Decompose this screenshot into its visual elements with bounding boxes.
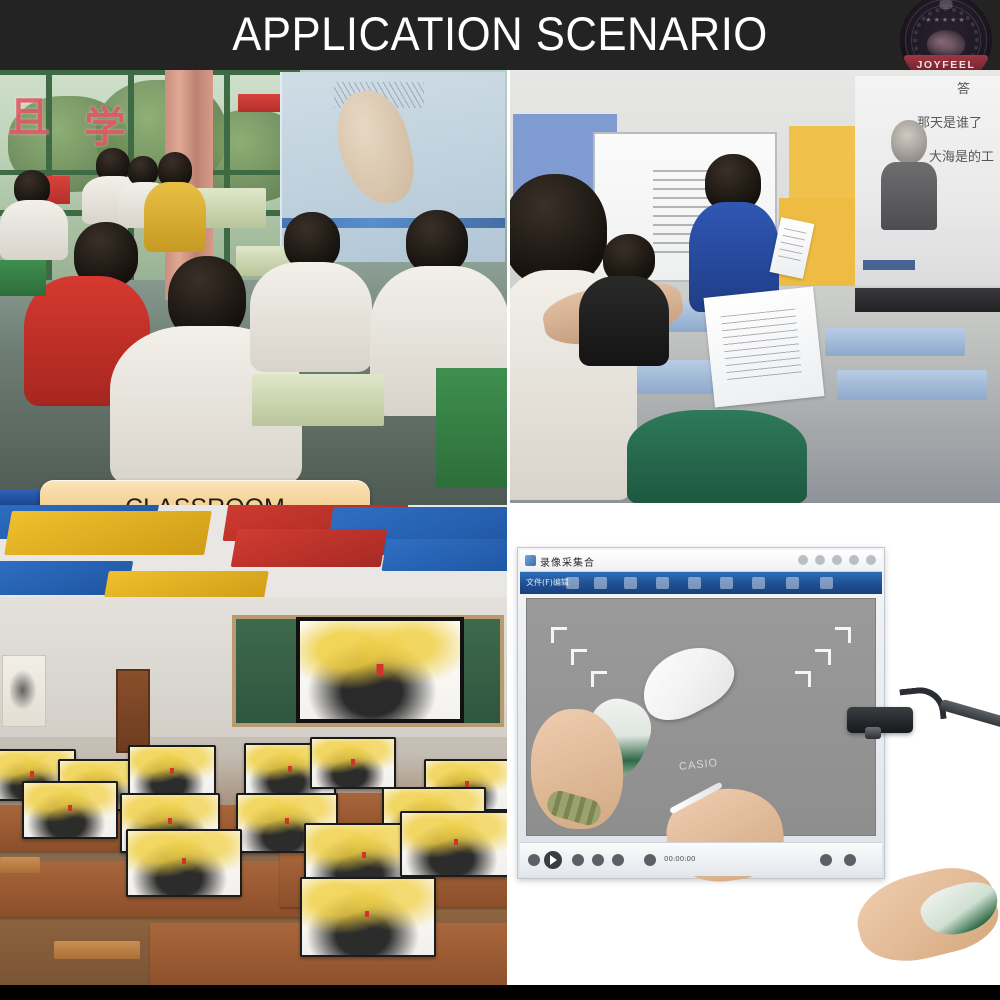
toolbar-button[interactable] (720, 577, 733, 589)
document-camera (847, 683, 1000, 753)
snapshot-button[interactable] (644, 854, 656, 866)
joyfeel-crest-logo: ★★★★★ JOYFEEL (900, 0, 992, 70)
monitor-seal (168, 818, 172, 824)
focus-bracket-icon (795, 671, 811, 687)
capture-software-window[interactable]: 录像采集合 文件(F)编辑 (517, 547, 885, 879)
toolbar-button[interactable] (656, 577, 669, 589)
student-torso (579, 276, 669, 366)
wall-character-1: 且 (8, 84, 50, 145)
display-stand-shelf (855, 288, 1000, 312)
monitor-seal (365, 911, 369, 917)
monitor-seal (170, 768, 174, 774)
student-stool (54, 941, 140, 959)
toolbar-button[interactable] (594, 577, 607, 589)
monitor-seal (182, 858, 186, 864)
record-button[interactable] (612, 854, 624, 866)
scenario-panel-video-shooting: 录像采集合 文件(F)编辑 (507, 505, 1000, 985)
ceiling-panel-yellow (4, 511, 212, 555)
wall-scroll-painting (2, 655, 46, 727)
classroom-desk (252, 374, 384, 426)
toolbar-button[interactable] (820, 577, 833, 589)
toolbar-menu-label[interactable]: 文件(F)编辑 (526, 577, 569, 588)
help-icon[interactable] (849, 555, 859, 565)
student-torso (0, 200, 68, 260)
app-icon (525, 555, 536, 566)
application-scenario-page: APPLICATION SCENARIO ★★★★★ JOYFEEL (0, 0, 1000, 1000)
window-frame (0, 70, 300, 75)
student-bag (627, 410, 807, 505)
desk-monitor (310, 737, 396, 789)
scenario-panel-calligraphy-training: CALLIGRAPHY & PAINTING TRAINING (0, 505, 507, 985)
save-button[interactable] (844, 854, 856, 866)
toolbar-button[interactable] (752, 577, 765, 589)
grid-divider-horizontal-right (507, 503, 1000, 507)
canvas-overlay-text: CASIO (678, 757, 718, 773)
teacher-head (891, 120, 927, 164)
focus-bracket-icon (815, 649, 831, 665)
scenario-panel-online-teaching: 答 那天是谁了 大海是的工 (507, 70, 1000, 505)
monitor-seal (288, 766, 292, 772)
monitor-seal (454, 839, 458, 845)
grid-divider-vertical (507, 70, 510, 985)
window-toolbar[interactable]: 文件(F)编辑 (520, 572, 882, 594)
stop-button[interactable] (528, 854, 540, 866)
toolbar-button[interactable] (566, 577, 579, 589)
student-desk (825, 328, 965, 356)
classroom-photo: 且 学 (0, 70, 507, 505)
monitor-seal (465, 781, 469, 787)
toolbar-button[interactable] (786, 577, 799, 589)
close-icon[interactable] (866, 555, 876, 565)
window-title-bar: 录像采集合 (520, 550, 882, 572)
toolbar-button[interactable] (688, 577, 701, 589)
focus-bracket-icon (591, 671, 607, 687)
room-door (116, 669, 150, 753)
focus-bracket-icon (551, 627, 567, 643)
student-torso (250, 262, 372, 372)
settings-icon[interactable] (832, 555, 842, 565)
worksheet-paper (704, 287, 825, 408)
remote-teacher-video (881, 120, 937, 230)
wall-character-2: 学 (84, 94, 126, 155)
timecode-display: 00:00:00 (664, 855, 695, 863)
student-desk (837, 370, 987, 400)
projected-character-main: 答 (957, 82, 970, 97)
paper-lines (721, 308, 802, 381)
scenario-grid: 且 学 (0, 70, 1000, 985)
focus-bracket-icon (835, 627, 851, 643)
scenario-panel-classroom: 且 学 (0, 70, 507, 505)
playback-controls[interactable]: 00:00:00 (520, 842, 882, 876)
monitor-seal (351, 759, 355, 765)
window-frame (224, 70, 230, 280)
next-button[interactable] (592, 854, 604, 866)
online-teaching-photo: 答 那天是谁了 大海是的工 (507, 70, 1000, 505)
monitor-seal (30, 771, 34, 777)
label-classroom[interactable]: CLASSROOM (40, 480, 370, 505)
minimize-icon[interactable] (798, 555, 808, 565)
focus-bracket-icon (571, 649, 587, 665)
online-display-screen: 答 那天是谁了 大海是的工 (855, 76, 1000, 286)
ceiling-panel-blue (381, 539, 507, 571)
page-title: APPLICATION SCENARIO (35, 0, 965, 70)
logo-brand-text: JOYFEEL (904, 55, 988, 70)
classroom-desk-green (0, 260, 46, 296)
desk-monitor (22, 781, 118, 839)
page-header: APPLICATION SCENARIO ★★★★★ JOYFEEL (0, 0, 1000, 70)
monitor-seal (362, 852, 366, 858)
front-display-panel (296, 617, 464, 723)
camera-arm (939, 699, 1000, 731)
desk-monitor (126, 829, 242, 897)
camera-lens-icon (865, 727, 881, 739)
logo-stars: ★★★★★ (900, 16, 992, 24)
student-stool (0, 857, 40, 873)
ceiling-panel-red (231, 529, 388, 567)
bottom-black-strip (0, 985, 1000, 1000)
classroom-desk-green (436, 368, 507, 488)
red-banner (238, 94, 284, 112)
video-shooting-photo: 录像采集合 文件(F)编辑 (507, 505, 1000, 985)
student-head (406, 210, 468, 274)
folder-button[interactable] (820, 854, 832, 866)
logo-ribbon-banner: JOYFEEL (904, 55, 988, 70)
scroll-ink (10, 668, 38, 712)
video-preview-canvas[interactable]: CASIO (526, 598, 876, 836)
desk-monitor (128, 745, 216, 799)
paper-lines (777, 228, 807, 266)
video-nameplate (863, 260, 915, 270)
play-button[interactable] (544, 851, 562, 869)
classroom-desk (196, 188, 266, 228)
desk-monitor (400, 811, 507, 877)
toolbar-button[interactable] (624, 577, 637, 589)
monitor-seal (285, 818, 289, 824)
teacher-body (881, 162, 937, 230)
monitor-seal (68, 805, 72, 811)
window-title-text: 录像采集合 (540, 554, 595, 569)
pause-button[interactable] (572, 854, 584, 866)
logo-top-ornament (940, 0, 953, 9)
monitor-screen (302, 879, 434, 955)
desk-monitor (300, 877, 436, 957)
restore-icon[interactable] (815, 555, 825, 565)
painting-red-seal (377, 664, 384, 675)
student-torso (144, 182, 206, 252)
projected-text-2: 大海是的工 (929, 150, 994, 165)
window-controls[interactable] (798, 555, 876, 565)
logo-emblem-icon (927, 30, 965, 58)
training-room-photo (0, 505, 507, 985)
